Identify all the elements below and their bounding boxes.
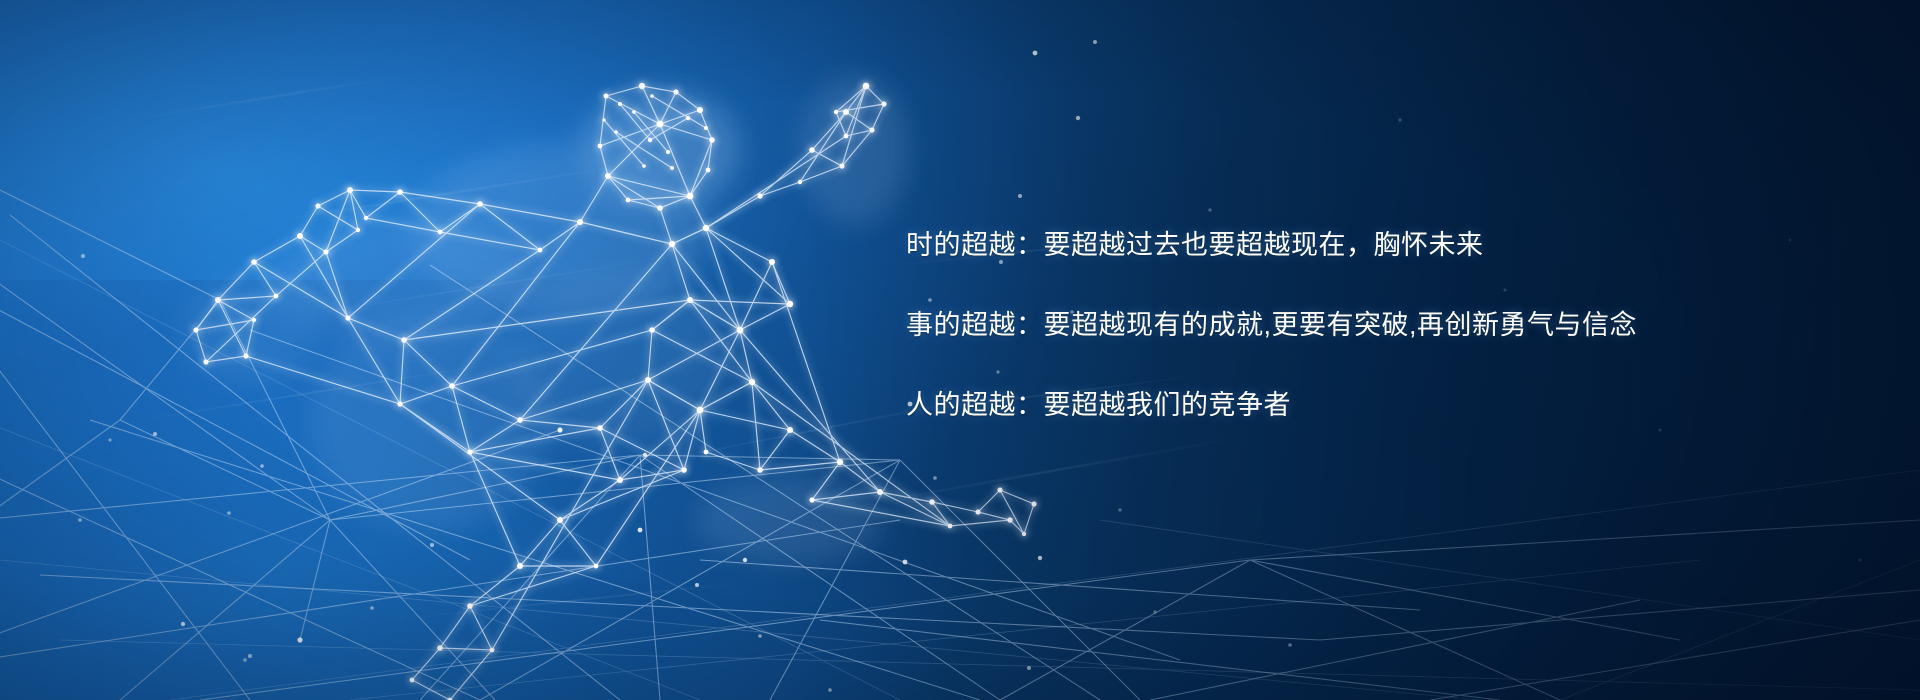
hero-banner: 时的超越：要超越过去也要超越现在，胸怀未来 事的超越：要超越现有的成就,更要有突… [0, 0, 1920, 700]
tagline-matter: 事的超越：要超越现有的成就,更要有突破,再创新勇气与信念 [906, 312, 1846, 339]
tagline-time: 时的超越：要超越过去也要超越现在，胸怀未来 [906, 232, 1846, 259]
tagline-people: 人的超越：要超越我们的竞争者 [906, 392, 1846, 419]
tagline-block: 时的超越：要超越过去也要超越现在，胸怀未来 事的超越：要超越现有的成就,更要有突… [906, 232, 1846, 419]
